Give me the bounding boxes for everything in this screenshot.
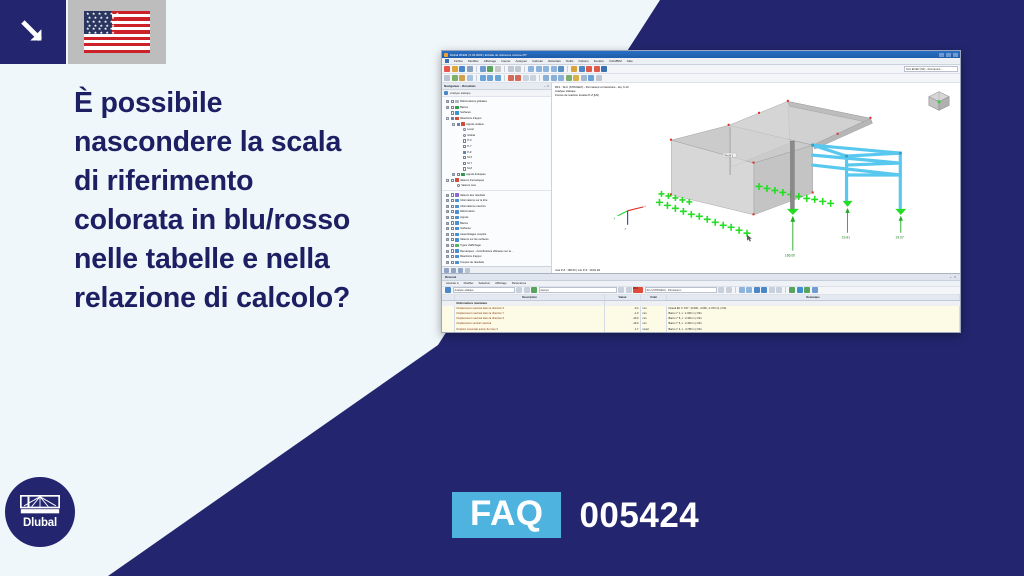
tree-spacer [458, 128, 461, 131]
faq-footer: FAQ 005424 [452, 492, 699, 538]
maximize-button[interactable] [946, 53, 951, 57]
tree-checkbox[interactable] [457, 123, 460, 126]
tree-item-icon [455, 205, 458, 208]
tree-expander-icon[interactable]: + [446, 250, 449, 253]
results-settings-icon[interactable] [797, 287, 803, 293]
tree-expander-icon[interactable]: - [446, 117, 449, 120]
toolbar-separator [476, 75, 477, 81]
results-panel-toolbar[interactable]: Analyse statique Aperçu RF1 SLU (STR/GEO… [442, 287, 960, 295]
results-menu-affichage[interactable]: Affichage [495, 281, 507, 285]
menu-item-aide[interactable]: Aide [627, 59, 633, 63]
toolbar-pan-icon[interactable] [579, 66, 585, 72]
svg-text:x: x [645, 204, 647, 208]
dlubal-frame-icon [20, 495, 60, 515]
results-filter-icon[interactable] [739, 287, 745, 293]
tree-item-label: Global [467, 134, 475, 137]
toolbar-separator [504, 66, 505, 72]
results-loadcase-badge[interactable]: RF1 [633, 287, 643, 293]
us-flag-icon: ★ ★ ★ ★ ★ ★ ★ ★ ★ ★ ★ ★ ★ ★ ★ ★ ★ ★ ★ ★ … [84, 11, 150, 53]
tree-checkbox[interactable] [451, 221, 454, 224]
app-menubar[interactable]: Fichier Modifier Affichage Insérer Assig… [442, 58, 960, 65]
tree-item-icon [455, 249, 458, 252]
minimize-button[interactable] [939, 53, 944, 57]
tree-expander-icon[interactable]: + [446, 194, 449, 197]
tree-checkbox[interactable] [463, 156, 466, 159]
reaction-label-1: 186.00 [785, 254, 795, 258]
tool-opening-icon[interactable] [495, 75, 501, 81]
toolbar-view-iso-icon[interactable] [551, 66, 557, 72]
toolbar-view-top-icon[interactable] [536, 66, 542, 72]
tree-checkbox[interactable] [451, 227, 454, 230]
results-summary-panel[interactable]: Résumé ⌐ × Accéder à Modifier Sélection … [442, 273, 960, 333]
viewport-footer-values: max P-Z : 186.00 | min P-Z : 19.81 kN [555, 269, 600, 272]
results-help-icon[interactable] [812, 287, 818, 293]
tree-item-icon [455, 233, 458, 236]
results-cell-desc: Rotation maximale autour de l'axe Y [455, 332, 605, 333]
toolbar-print-icon[interactable] [480, 66, 486, 72]
tree-checkbox[interactable] [451, 199, 454, 202]
tree-item-label: P-X [467, 139, 471, 142]
arrow-down-right-icon [18, 17, 48, 47]
results-refresh-icon[interactable] [804, 287, 810, 293]
toolbar-loadcase-icon[interactable] [601, 66, 607, 72]
close-button[interactable] [953, 53, 958, 57]
toolbar-separator [785, 287, 786, 293]
tool-surface-icon[interactable] [480, 75, 486, 81]
tree-item-label: Informations max/min [460, 205, 486, 208]
tree-spacer [458, 134, 461, 137]
tree-item-icon [455, 100, 458, 103]
toolbar-view-side-icon[interactable] [543, 66, 549, 72]
tree-checkbox[interactable] [451, 249, 454, 252]
tree-item-label: Réactions d'appui [460, 117, 481, 120]
toolbar-open-icon[interactable] [452, 66, 458, 72]
results-menu-acceder[interactable]: Accéder à [446, 281, 459, 285]
tree-spacer [458, 145, 461, 148]
tree-item-icon [461, 122, 464, 125]
tree-expander-icon[interactable]: + [446, 233, 449, 236]
svg-text:y: y [614, 216, 616, 220]
results-table[interactable]: Description Valeur Unité Remarque Déform… [442, 295, 960, 334]
faq-number: 005424 [579, 498, 699, 533]
results-excel-icon[interactable] [789, 287, 795, 293]
tool-grid-icon[interactable] [558, 75, 564, 81]
navigator-filter-row[interactable]: Analyse statique [442, 90, 551, 97]
toolbar-results-icon[interactable] [594, 66, 600, 72]
menu-item-fenetre[interactable]: Fenêtre [594, 59, 604, 63]
tree-checkbox[interactable] [457, 173, 460, 176]
tree-expander-icon[interactable]: + [446, 255, 449, 258]
tree-item-icon [455, 261, 458, 264]
tree-checkbox[interactable] [451, 117, 454, 120]
tree-item-label: Informations sur le titre [460, 199, 487, 202]
results-step-fwd-icon[interactable] [626, 287, 632, 293]
tool-hinge-icon[interactable] [515, 75, 521, 81]
tree-item-label: M-X [467, 156, 472, 159]
tree-radio[interactable] [463, 134, 466, 137]
results-lc-prev-icon[interactable] [718, 287, 724, 293]
results-chart-icon[interactable] [754, 287, 760, 293]
tree-item-label: Déformations globales [460, 100, 487, 103]
tree-checkbox[interactable] [451, 244, 454, 247]
results-print-icon[interactable] [769, 287, 775, 293]
toolbar-zoom-icon[interactable] [571, 66, 577, 72]
tree-checkbox[interactable] [463, 162, 466, 165]
headline-line-3: di riferimento [74, 162, 434, 201]
headline-line-4: colorata in blu/rosso [74, 201, 434, 240]
language-flag-tile[interactable]: ★ ★ ★ ★ ★ ★ ★ ★ ★ ★ ★ ★ ★ ★ ★ ★ ★ ★ ★ ★ … [68, 0, 166, 64]
results-navigator-panel[interactable]: Navigateur - Résultats ⌐ × Analyse stati… [442, 83, 552, 273]
reaction-label-3: 19.07 [895, 236, 904, 240]
menu-app-icon [445, 59, 449, 63]
menu-item-resultats[interactable]: Résultats [548, 59, 561, 63]
tree-item-label: Assemblages couplés [460, 233, 486, 236]
faq-badge: FAQ [452, 492, 561, 538]
tree-expander-icon[interactable]: + [452, 173, 455, 176]
tree-item-label: M-Z [467, 167, 472, 170]
results-overview-icon [531, 287, 537, 293]
toolbar-separator [476, 66, 477, 72]
structural-model-3d[interactable]: 186.00 19.81 19.07 Profil 1 x y z [552, 83, 960, 273]
tree-checkbox[interactable] [463, 167, 466, 170]
results-cell-val: -0.4 [605, 332, 641, 333]
slide-canvas: ★ ★ ★ ★ ★ ★ ★ ★ ★ ★ ★ ★ ★ ★ ★ ★ ★ ★ ★ ★ … [0, 0, 1024, 576]
tree-expander-icon[interactable]: - [452, 123, 455, 126]
tree-expander-icon[interactable]: + [446, 106, 449, 109]
corner-arrow-tile [0, 0, 66, 64]
menu-item-calculer[interactable]: Calculer [532, 59, 543, 63]
tree-item-icon [455, 221, 458, 224]
tree-checkbox[interactable] [451, 106, 454, 109]
tree-expander-icon[interactable]: + [446, 261, 449, 264]
results-menu-modifier[interactable]: Modifier [464, 281, 474, 285]
results-panel-controls[interactable]: ⌐ × [950, 275, 957, 279]
navigator-tab-display-icon[interactable] [451, 268, 456, 273]
navigator-display-item[interactable]: +Coupes de résultats [443, 259, 550, 265]
tree-item-icon [455, 255, 458, 258]
toolbar-export-icon[interactable] [495, 66, 501, 72]
model-viewport[interactable]: RF1 : SLU (STR/GEO) - Permanent et trans… [552, 83, 960, 273]
tool-section-icon[interactable] [588, 75, 594, 81]
app-titlebar: Dlubal RFEM | 6.04.0009 | Echelle de réf… [442, 51, 960, 58]
tree-expander-icon[interactable]: + [446, 100, 449, 103]
tool-node-icon[interactable] [452, 75, 458, 81]
results-table-row[interactable]: Rotation maximale autour de l'axe Y-0.4m… [442, 332, 960, 333]
app-title: Dlubal RFEM | 6.04.0009 | Echelle de réf… [450, 53, 527, 57]
tool-solid-icon[interactable] [487, 75, 493, 81]
toolbar-saveas-icon[interactable] [467, 66, 473, 72]
tree-item-icon [455, 111, 458, 114]
tree-checkbox[interactable] [463, 145, 466, 148]
tool-select-icon[interactable] [444, 75, 450, 81]
toolbar-separator [539, 75, 540, 81]
dlubal-logo: Dlubal [5, 477, 75, 547]
tool-visibility-icon[interactable] [566, 75, 572, 81]
tree-item-label: Remarques - Contributions efficaces sur … [460, 250, 514, 253]
tree-checkbox[interactable] [451, 216, 454, 219]
tree-item-label: Appuis linéiques [466, 173, 486, 176]
svg-text:z: z [625, 227, 627, 231]
tree-spacer [458, 139, 461, 142]
tree-item-icon [455, 193, 458, 196]
tree-checkbox[interactable] [451, 205, 454, 208]
menu-item-options[interactable]: Options [578, 59, 588, 63]
toolbar-separator [524, 66, 525, 72]
window-controls[interactable] [939, 53, 958, 57]
menu-item-affichage[interactable]: Affichage [484, 59, 496, 63]
tree-expander-icon[interactable]: + [446, 210, 449, 213]
results-analysis-icon [445, 287, 451, 293]
navigator-close-icon[interactable]: ⌐ × [545, 84, 549, 88]
results-menu-selection[interactable]: Sélection [479, 281, 491, 285]
app-toolbar-primary[interactable]: SLU EF/EN (NF) - Permanent... [442, 65, 960, 74]
tree-item-icon [461, 173, 464, 176]
headline-line-5: nelle tabelle e nella [74, 240, 434, 279]
tree-expander-icon[interactable]: + [446, 244, 449, 247]
tree-checkbox[interactable] [451, 210, 454, 213]
toolbar-view-front-icon[interactable] [528, 66, 534, 72]
tree-expander-icon[interactable]: - [446, 179, 449, 182]
tree-item-icon [455, 199, 458, 202]
results-step-back-icon[interactable] [618, 287, 624, 293]
tree-item-label: Surfaces [460, 227, 471, 230]
tool-clip-icon[interactable] [581, 75, 587, 81]
tree-item-label: Appuis nodaux [466, 123, 484, 126]
toolbar-separator [735, 287, 736, 293]
results-cell-unit: mrad [641, 332, 667, 333]
toolbar-printpreview-icon[interactable] [487, 66, 493, 72]
results-copy-icon[interactable] [776, 287, 782, 293]
navigator-title-bar: Navigateur - Résultats ⌐ × [442, 83, 551, 90]
navigator-tab-strip[interactable] [442, 266, 551, 273]
reaction-label-2: 19.81 [842, 236, 851, 240]
navigator-tab-data-icon[interactable] [444, 268, 449, 273]
header-description: Description [455, 295, 605, 300]
header-valeur: Valeur [605, 295, 641, 300]
tool-settings-icon[interactable] [596, 75, 602, 81]
tree-checkbox[interactable] [463, 151, 466, 154]
tree-checkbox[interactable] [463, 139, 466, 142]
menu-item-inserer[interactable]: Insérer [501, 59, 510, 63]
tree-item-label: P-Z [467, 151, 471, 154]
menu-item-modifier[interactable]: Modifier [468, 59, 479, 63]
tree-checkbox[interactable] [451, 238, 454, 241]
tree-item-icon [455, 216, 458, 219]
results-cell-idx [442, 332, 455, 333]
tool-snap-icon[interactable] [551, 75, 557, 81]
tree-item-label: M-Y [467, 162, 472, 165]
header-index [442, 295, 455, 300]
results-export-icon[interactable] [761, 287, 767, 293]
view-cube-icon[interactable] [924, 88, 954, 114]
tree-checkbox[interactable] [451, 233, 454, 236]
app-toolbar-secondary[interactable] [442, 74, 960, 83]
tree-spacer [458, 162, 461, 165]
results-next-icon[interactable] [524, 287, 530, 293]
header-unite: Unité [641, 295, 667, 300]
tool-layer-icon[interactable] [573, 75, 579, 81]
toolbar-calculate-icon[interactable] [586, 66, 592, 72]
tree-radio[interactable] [457, 184, 460, 187]
menu-item-outils[interactable]: Outils [566, 59, 574, 63]
results-cell-rem: Barre n° 1, x : 0.000 m | CS1 [667, 332, 960, 333]
results-analysis-combo[interactable]: Analyse statique [453, 287, 515, 293]
tree-item-icon [455, 238, 458, 241]
tree-checkbox[interactable] [451, 255, 454, 258]
toolbar-new-icon[interactable] [444, 66, 450, 72]
tree-item-icon [455, 117, 458, 120]
tree-item-label: Valeurs max [461, 184, 476, 187]
tree-spacer [458, 156, 461, 159]
results-sort-icon[interactable] [746, 287, 752, 293]
tree-item-label: Valeurs d'enveloppe [460, 179, 484, 182]
tree-item-label: Barres [460, 222, 468, 225]
tool-mesh-icon[interactable] [530, 75, 536, 81]
tree-item-label: Coupes de résultats [460, 261, 484, 264]
svg-text:Profil 1: Profil 1 [725, 154, 734, 158]
tree-item-label: Déformation [460, 210, 475, 213]
toolbar-save-icon[interactable] [459, 66, 465, 72]
tree-item-icon [455, 227, 458, 230]
tree-item-label: Valeurs des résultats [460, 194, 485, 197]
tree-expander-icon[interactable]: + [446, 238, 449, 241]
tree-item-label: Surfaces [460, 111, 471, 114]
tree-spacer [458, 167, 461, 170]
tree-spacer [458, 151, 461, 154]
tree-item-icon [455, 178, 458, 181]
headline: È possibile nascondere la scala di rifer… [74, 84, 434, 318]
navigator-display-tree[interactable]: +Valeurs des résultats+Informations sur … [442, 190, 551, 266]
headline-line-6: relazione di calcolo? [74, 279, 434, 318]
tree-item-label: Valeurs sur les surfaces [460, 238, 488, 241]
tree-item-icon [455, 244, 458, 247]
tool-load-icon[interactable] [523, 75, 529, 81]
tree-expander-icon[interactable]: + [446, 222, 449, 225]
tree-item-label: Appuis [460, 216, 468, 219]
toolbar-separator [567, 66, 568, 72]
navigator-tab-results-icon[interactable] [465, 268, 470, 273]
tool-member-icon[interactable] [467, 75, 473, 81]
tree-item-label: P-Y [467, 145, 471, 148]
coordinate-axes-icon: x y z [614, 204, 647, 231]
navigator-filter-value[interactable]: Analyse statique [450, 91, 471, 95]
tree-item-label: Types d'affichage [460, 244, 481, 247]
analysis-type-icon [444, 91, 448, 95]
tree-expander-icon[interactable]: + [446, 227, 449, 230]
dlubal-logo-text: Dlubal [23, 517, 57, 529]
results-table-body[interactable]: Déformations maximalesDéplacement maxima… [442, 301, 960, 334]
headline-line-1: È possibile [74, 84, 434, 123]
tool-dimension-icon[interactable] [543, 75, 549, 81]
header-remarque: Remarque [667, 295, 960, 300]
toolbar-separator [504, 75, 505, 81]
tool-support-icon[interactable] [508, 75, 514, 81]
menu-item-assigner[interactable]: Assigner [516, 59, 528, 63]
tree-checkbox[interactable] [451, 100, 454, 103]
tree-item-icon [455, 106, 458, 109]
tree-spacer [446, 111, 449, 114]
app-main-area: Navigateur - Résultats ⌐ × Analyse stati… [442, 83, 960, 273]
toolbar-undo-icon[interactable] [508, 66, 514, 72]
tree-expander-icon[interactable]: + [446, 205, 449, 208]
toolbar-render-icon[interactable] [558, 66, 564, 72]
tree-item-icon [455, 210, 458, 213]
app-icon [444, 53, 448, 57]
tree-checkbox[interactable] [451, 261, 454, 264]
results-prev-icon[interactable] [516, 287, 522, 293]
rfem-application-window[interactable]: Dlubal RFEM | 6.04.0009 | Echelle de réf… [441, 50, 961, 333]
tree-checkbox[interactable] [451, 111, 454, 114]
results-overview-combo[interactable]: Aperçu [539, 287, 617, 293]
tree-item-label: Barres [460, 106, 468, 109]
tree-spacer [452, 184, 455, 187]
tool-line-icon[interactable] [459, 75, 465, 81]
headline-line-2: nascondere la scala [74, 123, 434, 162]
loadcase-combo[interactable]: SLU EF/EN (NF) - Permanent... [904, 66, 958, 72]
tree-expander-icon[interactable]: + [446, 199, 449, 202]
navigator-title: Navigateur - Résultats [444, 84, 476, 88]
results-loadcase-combo[interactable]: SLU (STR/GEO) - Permanent... [645, 287, 717, 293]
results-lc-next-icon[interactable] [726, 287, 732, 293]
navigator-tree[interactable]: +Déformations globales+BarresSurfaces-Ré… [442, 97, 551, 190]
tree-expander-icon[interactable]: + [446, 216, 449, 219]
menu-item-fichier[interactable]: Fichier [454, 59, 463, 63]
tree-radio[interactable] [463, 128, 466, 131]
tree-checkbox[interactable] [451, 193, 454, 196]
tree-item-label: Réactions d'appui [460, 255, 481, 258]
toolbar-redo-icon[interactable] [515, 66, 521, 72]
results-panel-title: Résumé [445, 275, 456, 279]
menu-item-caobim[interactable]: CAO/BIM [609, 59, 622, 63]
navigator-tab-views-icon[interactable] [458, 268, 463, 273]
tree-item-label: Local [467, 128, 473, 131]
results-menu-parametres[interactable]: Paramètres [512, 281, 526, 285]
tree-checkbox[interactable] [451, 179, 454, 182]
